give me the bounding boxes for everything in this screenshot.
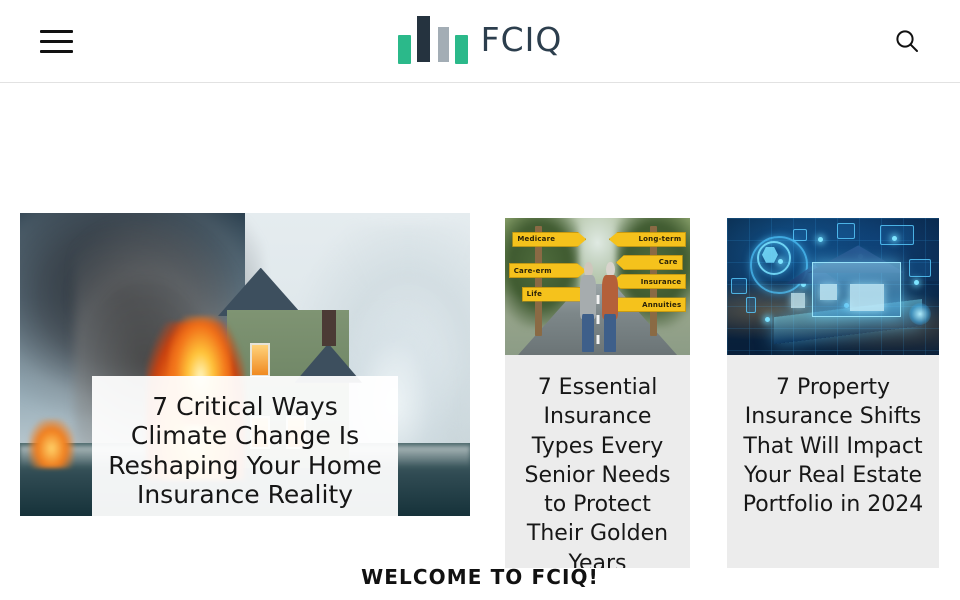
hud-panel-5 [880, 225, 914, 245]
person-right-legs [604, 314, 616, 352]
smart-house-window-3 [791, 293, 806, 308]
seniors-card-title: 7 Essential Insurance Types Every Senior… [513, 373, 682, 568]
smart-house-window-1 [820, 284, 837, 300]
hero-card-title: 7 Critical Ways Climate Change Is Reshap… [102, 392, 388, 509]
hud-panel-6 [909, 259, 931, 277]
article-card-seniors[interactable]: Medicare Care-erm Life Long-term Care In… [505, 218, 690, 568]
hero-card-title-box: 7 Critical Ways Climate Change Is Reshap… [92, 376, 398, 516]
hamburger-menu-icon [40, 30, 73, 33]
sign-label-annuities: Annuities [609, 297, 687, 312]
person-left-torso [580, 275, 596, 318]
network-node-6 [914, 280, 919, 285]
signpost-scene: Medicare Care-erm Life Long-term Care In… [505, 218, 690, 355]
person-left-legs [582, 314, 594, 352]
article-card-grid: 7 Critical Ways Climate Change Is Reshap… [0, 83, 960, 483]
hamburger-menu-button[interactable] [40, 24, 74, 58]
sign-label-care-erm: Care-erm [509, 263, 587, 278]
search-icon [894, 28, 920, 54]
logo-bar-4 [455, 35, 468, 64]
hamburger-menu-icon-line-2 [40, 40, 73, 43]
smart-home-scene [727, 218, 939, 355]
shore-fire [29, 419, 74, 467]
property-card-image [727, 218, 939, 355]
hud-panel-4 [837, 223, 855, 239]
sign-label-care: Care [616, 255, 683, 270]
network-node-1 [778, 259, 783, 264]
sign-label-insurance: Insurance [612, 274, 686, 289]
property-card-caption: 7 Property Insurance Shifts That Will Im… [727, 355, 939, 529]
welcome-section: WELCOME TO FCIQ! [0, 565, 960, 589]
seniors-card-caption: 7 Essential Insurance Types Every Senior… [505, 355, 690, 568]
hud-panel-1 [731, 278, 747, 294]
hamburger-menu-icon-line-3 [40, 50, 73, 53]
site-header: FCIQ [0, 0, 960, 83]
property-card-title: 7 Property Insurance Shifts That Will Im… [735, 373, 931, 519]
sign-label-medicare: Medicare [512, 232, 586, 247]
hud-panel-2 [746, 297, 756, 313]
elderly-couple [579, 262, 620, 352]
burning-window-1 [250, 343, 271, 376]
sign-label-long-term: Long-term [609, 232, 687, 247]
site-logo[interactable]: FCIQ [0, 14, 960, 64]
smart-house-window-2 [850, 284, 884, 311]
article-card-property[interactable]: 7 Property Insurance Shifts That Will Im… [727, 218, 939, 568]
person-left [579, 262, 598, 352]
person-right-torso [602, 275, 618, 318]
welcome-heading: WELCOME TO FCIQ! [0, 565, 960, 589]
chimney [322, 310, 336, 346]
article-card-hero[interactable]: 7 Critical Ways Climate Change Is Reshap… [20, 213, 470, 516]
logo-bar-1 [398, 35, 411, 64]
logo-wordmark: FCIQ [481, 23, 563, 56]
logo-bar-3 [436, 25, 451, 64]
logo-bar-2 [415, 14, 432, 64]
hud-panel-3 [793, 229, 807, 241]
search-button[interactable] [890, 24, 924, 58]
bar-chart-logo-icon [398, 14, 468, 64]
network-node-8 [765, 317, 770, 322]
seniors-card-image: Medicare Care-erm Life Long-term Care In… [505, 218, 690, 355]
person-right [601, 262, 620, 352]
